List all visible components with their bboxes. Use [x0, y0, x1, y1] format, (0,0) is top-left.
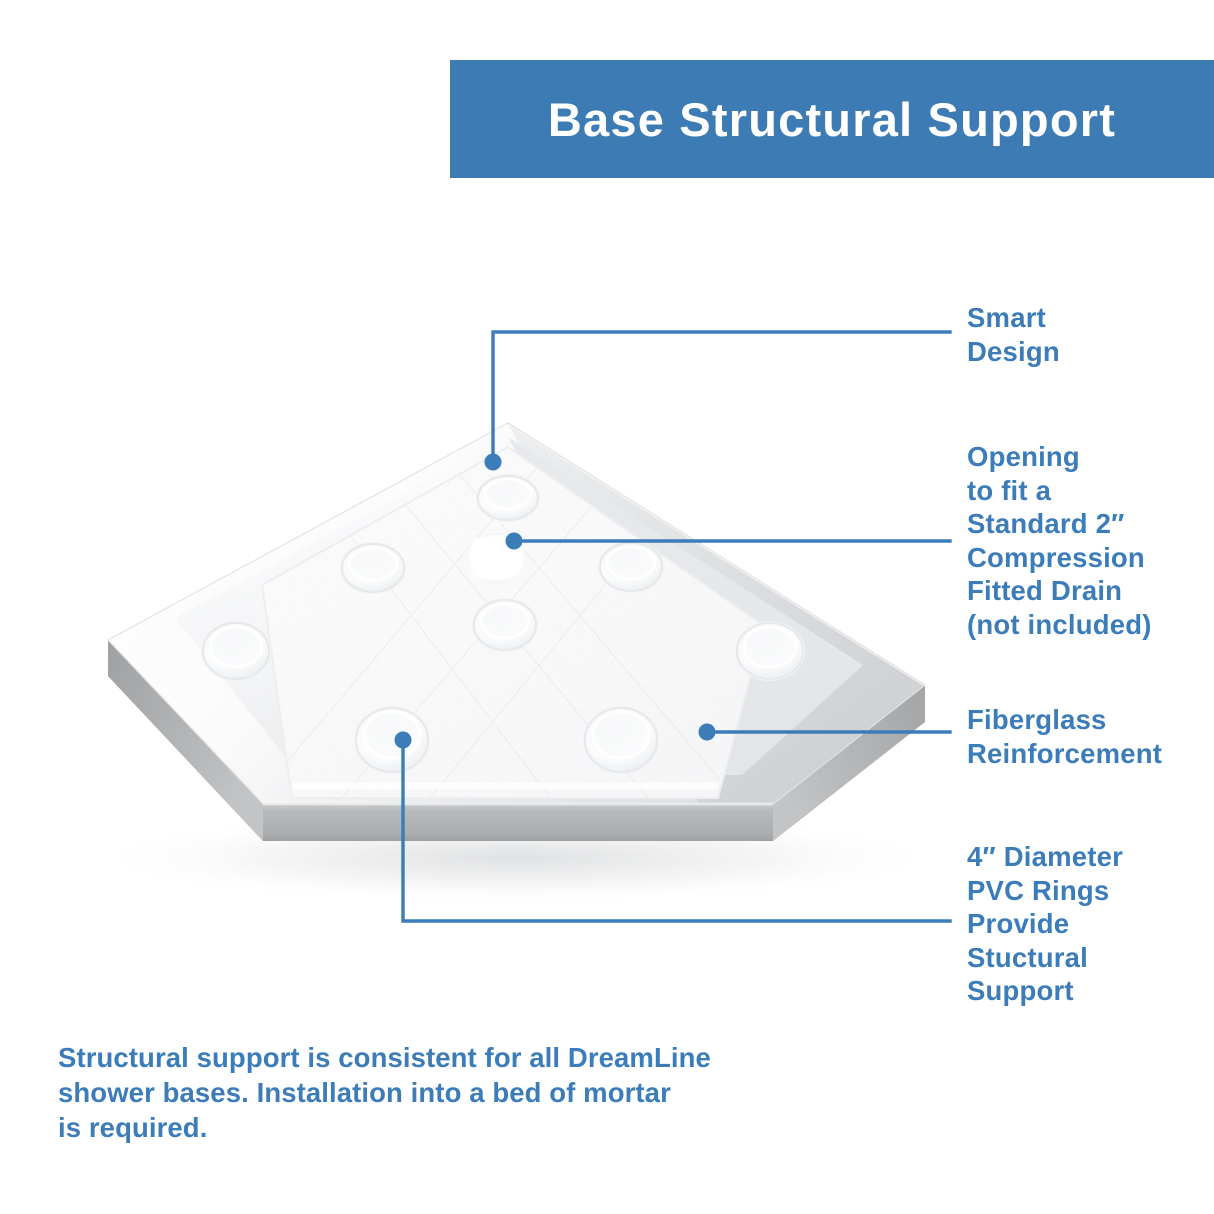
annotation-pvc-rings: 4″ Diameter PVC Rings Provide Stuctural … [967, 840, 1123, 1008]
annotation-line: Fitted Drain [967, 574, 1152, 608]
pvc-ring [472, 598, 538, 652]
caption-line: shower bases. Installation into a bed of… [58, 1075, 711, 1110]
caption-line: Structural support is consistent for all… [58, 1040, 711, 1075]
pvc-ring [735, 621, 805, 681]
pvc-ring [476, 474, 540, 522]
annotation-line: to fit a [967, 474, 1152, 508]
annotation-line: Smart [967, 301, 1060, 335]
annotation-drain-opening: Opening to fit a Standard 2″ Compression… [967, 440, 1152, 641]
annotation-line: 4″ Diameter [967, 840, 1123, 874]
infographic-canvas: Base Structural Support [0, 0, 1214, 1214]
annotation-smart-design: Smart Design [967, 301, 1060, 368]
annotation-line: Design [967, 335, 1060, 369]
pvc-ring [598, 541, 664, 593]
annotation-fiberglass-reinforcement: Fiberglass Reinforcement [967, 703, 1162, 770]
annotation-line: Stuctural [967, 941, 1123, 975]
drain-opening [468, 533, 526, 583]
annotation-line: Compression [967, 541, 1152, 575]
footer-caption: Structural support is consistent for all… [58, 1040, 711, 1145]
annotation-line: Opening [967, 440, 1152, 474]
pvc-ring [340, 542, 406, 594]
base-front-skirt [263, 804, 773, 841]
annotation-line: Reinforcement [967, 737, 1162, 771]
annotation-line: PVC Rings [967, 874, 1123, 908]
pvc-ring [583, 706, 659, 774]
annotation-line: Fiberglass [967, 703, 1162, 737]
pvc-ring [201, 621, 271, 681]
pvc-ring [354, 706, 430, 774]
annotation-line: Provide [967, 907, 1123, 941]
caption-line: is required. [58, 1110, 711, 1145]
annotation-line: Standard 2″ [967, 507, 1152, 541]
annotation-line: (not included) [967, 608, 1152, 642]
annotation-line: Support [967, 974, 1123, 1008]
